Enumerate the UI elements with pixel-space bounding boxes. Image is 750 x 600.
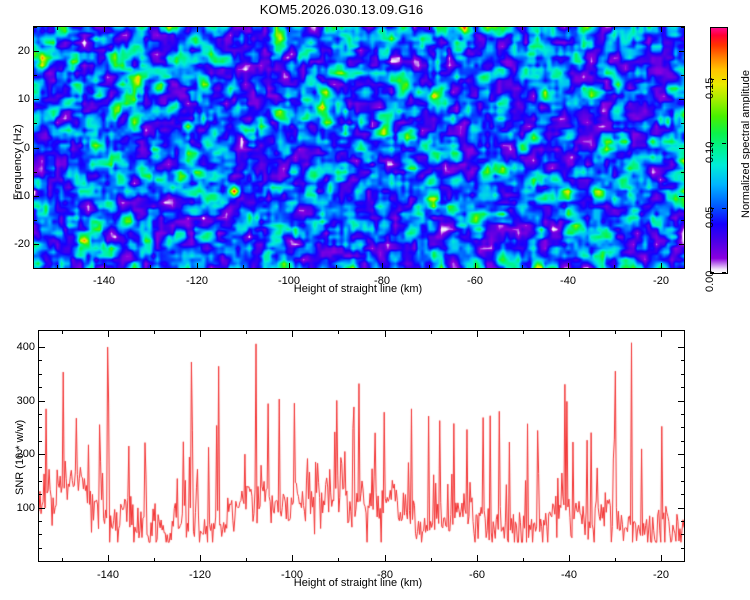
colorbar-ticklabel: 0.10 [704, 142, 716, 163]
spectrogram-y-ticklabel: 10 [4, 93, 30, 105]
snr-x-ticklabel: -140 [97, 569, 119, 581]
spectrogram-x-ticklabel: -60 [467, 275, 483, 287]
figure-root: KOM5.2026.030.13.09.G16 20100-10-20 -140… [0, 0, 750, 600]
colorbar-ticklabel: 0.15 [704, 78, 716, 99]
snr-x-axis-title: Height of straight line (km) [294, 577, 422, 589]
spectrogram-y-axis-title: Frequency (Hz) [12, 124, 24, 200]
spectrogram-y-ticklabel: 20 [4, 45, 30, 57]
spectrogram-x-ticklabel: -120 [186, 275, 208, 287]
snr-canvas [39, 331, 684, 561]
spectrogram-canvas [34, 27, 684, 268]
snr-plot-area[interactable] [38, 330, 685, 562]
snr-y-ticklabel: 300 [7, 395, 35, 407]
snr-y-axis-title: SNR (10 * w/w) [14, 420, 26, 495]
spectrogram-x-ticklabel: -140 [93, 275, 115, 287]
spectrogram-x-ticklabel: -20 [653, 275, 669, 287]
snr-x-ticklabel: -40 [561, 569, 577, 581]
snr-y-ticklabel: 400 [7, 341, 35, 353]
snr-x-ticklabel: -120 [189, 569, 211, 581]
snr-y-ticklabel: 100 [7, 502, 35, 514]
spectrogram-plot-area[interactable] [33, 26, 685, 269]
colorbar-ticklabel: 0.00 [704, 271, 716, 292]
snr-x-ticklabel: -20 [653, 569, 669, 581]
spectrogram-x-axis-title: Height of straight line (km) [294, 283, 422, 295]
snr-x-ticklabel: -60 [469, 569, 485, 581]
colorbar-title: Normalized spectral amplitude [740, 70, 750, 218]
spectrogram-y-ticklabel: -20 [4, 238, 30, 250]
page-title: KOM5.2026.030.13.09.G16 [0, 2, 683, 17]
spectrogram-x-ticklabel: -40 [560, 275, 576, 287]
colorbar-ticklabel: 0.05 [704, 207, 716, 228]
